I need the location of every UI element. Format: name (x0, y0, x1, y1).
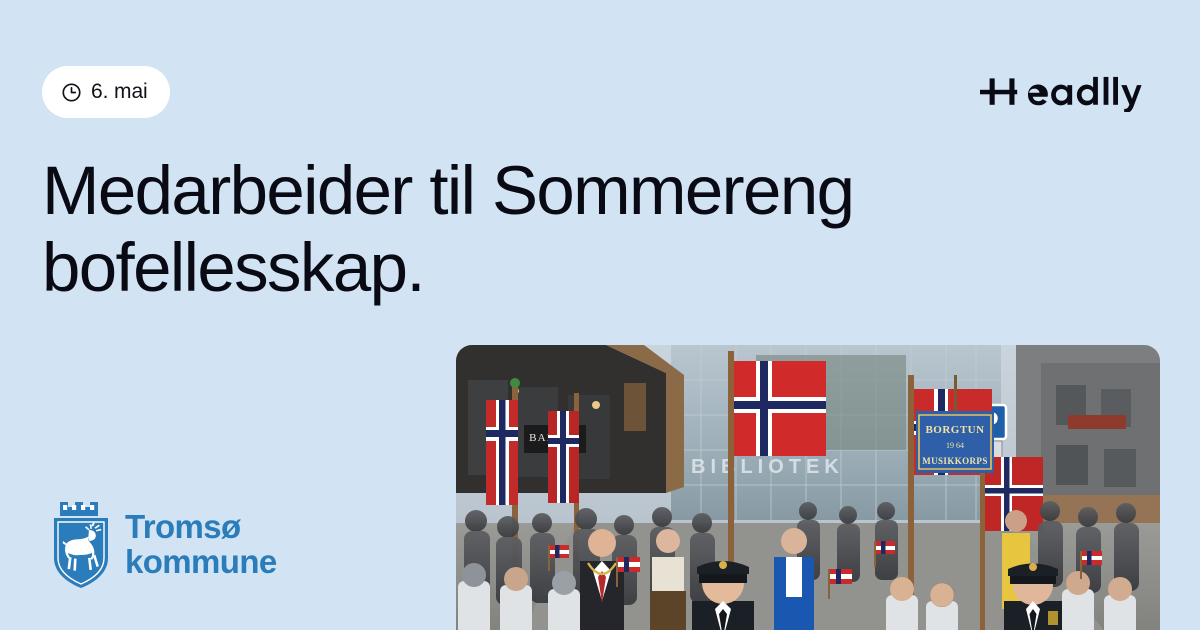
svg-text:BORGTUN: BORGTUN (925, 424, 984, 436)
kommune-line-2: kommune (125, 544, 277, 579)
headly-logo (980, 64, 1160, 118)
tromso-kommune-logo: Tromsø kommune (50, 498, 277, 590)
date-label: 6. mai (91, 80, 148, 104)
bibliotek-sign-text: BIBLIOTEK (691, 456, 844, 478)
parade-photo-illustration: BIBLIOTEK BARDUS BAR (456, 345, 1160, 630)
headly-wordmark-icon (980, 70, 1160, 112)
article-photo: BIBLIOTEK BARDUS BAR (456, 345, 1160, 630)
kommune-line-1: Tromsø (125, 509, 277, 544)
clock-icon (61, 82, 82, 103)
svg-text:MUSIKKORPS: MUSIKKORPS (922, 456, 988, 466)
tromso-coat-of-arms-icon (50, 498, 112, 590)
svg-text:19 64: 19 64 (946, 441, 964, 450)
kommune-wordmark: Tromsø kommune (125, 509, 277, 580)
date-badge: 6. mai (42, 66, 170, 118)
social-share-card: 6. mai Medarb (0, 0, 1200, 630)
page-title: Medarbeider til Sommereng bofellesskap. (42, 152, 1102, 307)
